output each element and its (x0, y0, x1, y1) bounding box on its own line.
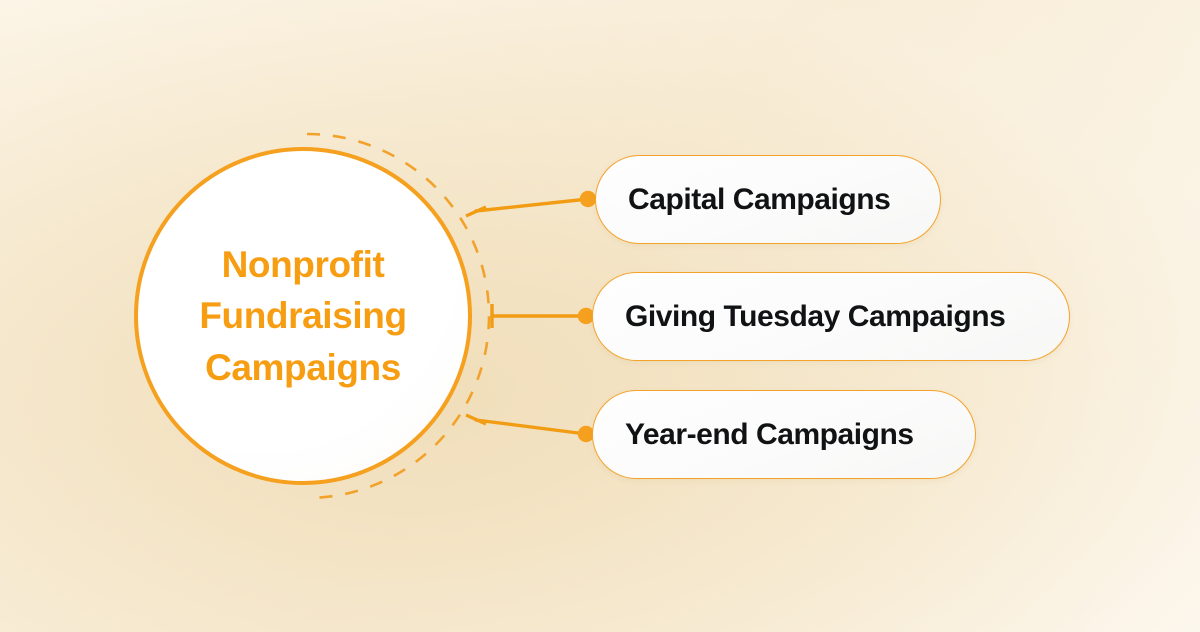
diagram-canvas: Nonprofit Fundraising Campaigns Capital … (0, 0, 1200, 632)
central-hub-label: Nonprofit Fundraising Campaigns (199, 239, 406, 392)
branch-label: Capital Campaigns (628, 183, 890, 217)
connector-branch-0 (466, 191, 596, 216)
branch-label: Giving Tuesday Campaigns (625, 300, 1005, 334)
branch-node-year-end-campaigns[interactable]: Year-end Campaigns (592, 390, 976, 479)
connector-branch-2 (466, 415, 594, 442)
branch-label: Year-end Campaigns (625, 418, 914, 452)
branch-node-capital-campaigns[interactable]: Capital Campaigns (595, 155, 941, 244)
connector-branch-1 (492, 304, 594, 328)
branch-node-giving-tuesday-campaigns[interactable]: Giving Tuesday Campaigns (592, 272, 1070, 361)
connector-dot-0 (580, 191, 596, 207)
central-hub-node[interactable]: Nonprofit Fundraising Campaigns (134, 147, 472, 485)
